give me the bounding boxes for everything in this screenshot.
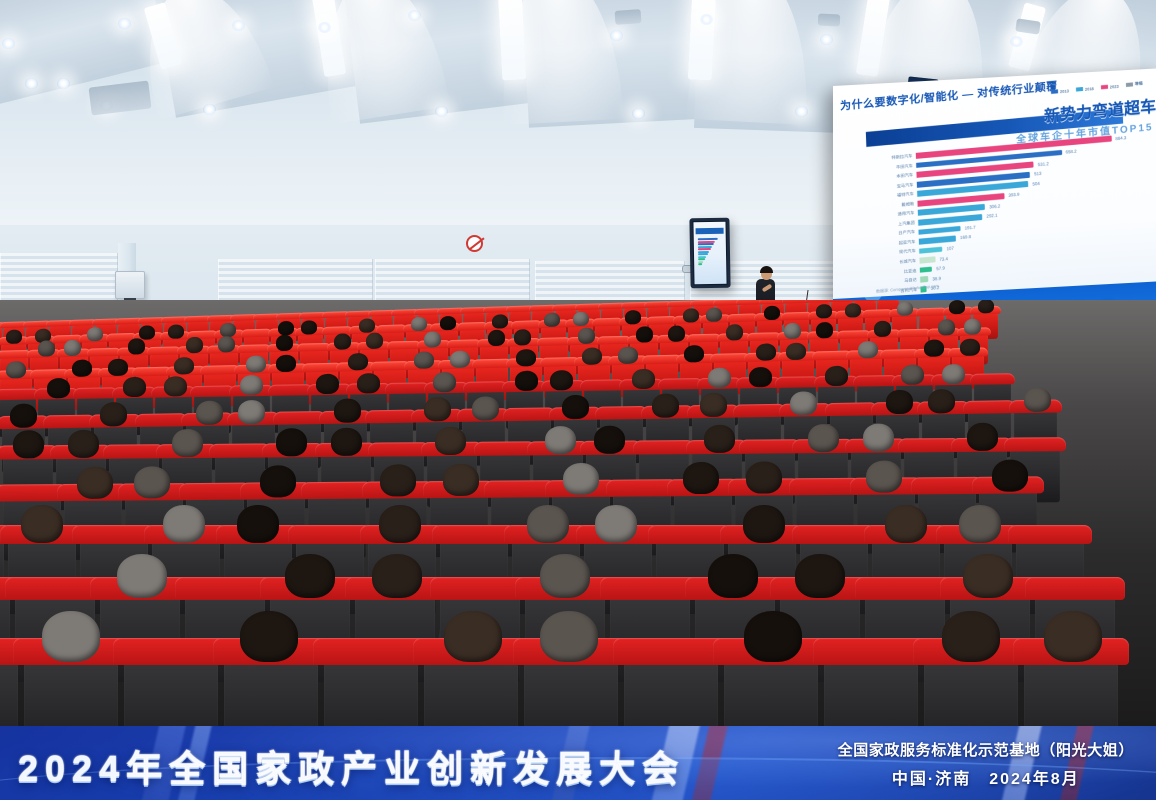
- audience-member-head: [764, 306, 780, 321]
- audience-member-head: [380, 464, 416, 496]
- chart-value-label: 191.7: [964, 225, 975, 231]
- auditorium-seat: [124, 648, 218, 726]
- audience-member-head: [790, 391, 817, 415]
- audience-member-head: [443, 464, 479, 496]
- audience-member-head: [1024, 387, 1051, 411]
- auditorium-seat: [624, 648, 718, 726]
- audience-member-head: [550, 370, 573, 390]
- audience-member-head: [276, 354, 296, 371]
- audience-member-head: [334, 398, 361, 422]
- audience-member-head: [744, 611, 802, 662]
- audience-member-head: [174, 357, 194, 374]
- audience-member-head: [472, 396, 499, 420]
- audience-member-head: [440, 316, 456, 331]
- audience-member-head: [47, 378, 70, 398]
- audience-member-head: [72, 359, 92, 376]
- audience-member-head: [240, 611, 298, 662]
- audience-member-head: [949, 300, 965, 314]
- audience-member-head: [1044, 611, 1102, 662]
- audience-member-head: [168, 324, 184, 339]
- chart-value-label: 393.9: [1008, 192, 1019, 198]
- audience-member-head: [668, 326, 685, 342]
- audience-member-head: [246, 355, 266, 372]
- chart-bar: [919, 246, 943, 254]
- audience-member-head: [901, 364, 924, 384]
- chart-bar: [920, 276, 929, 283]
- audience-member-head: [706, 307, 722, 322]
- audience-member-head: [795, 554, 845, 598]
- audience-member-head: [886, 389, 913, 413]
- audience-member-head: [743, 505, 785, 543]
- audience-member-head: [874, 321, 891, 337]
- chart-value-label: 292.1: [986, 213, 997, 219]
- audience-member-head: [260, 465, 296, 497]
- banner-subtitle-block: 全国家政服务标准化示范基地（阳光大姐） 中国·济南 2024年8月: [838, 739, 1134, 789]
- audience-member-head: [379, 505, 421, 543]
- audience-member-head: [285, 554, 335, 598]
- audience-member-head: [704, 425, 735, 453]
- audience-member-head: [134, 466, 170, 498]
- screenshot-root: 为什么要数字化/智能化 — 对传统行业颠覆 2013 2018 2023 增幅 …: [0, 0, 1156, 800]
- audience-member-head: [359, 318, 375, 333]
- audience-member-head: [540, 554, 590, 598]
- chart-bar: [919, 256, 935, 263]
- chart-value-label: 513: [1034, 171, 1041, 177]
- audience-member-head: [38, 341, 55, 357]
- audience-member-head: [128, 339, 145, 355]
- chart-value-label: 306.2: [989, 203, 1000, 209]
- audience-member-head: [411, 317, 427, 332]
- audience-member-head: [866, 460, 902, 492]
- audience-member-head: [960, 338, 980, 355]
- audience-member-head: [578, 328, 595, 344]
- audience-member-head: [573, 312, 589, 327]
- audience-member-head: [87, 327, 103, 342]
- audience-member-head: [863, 423, 894, 451]
- audience-member-head: [684, 345, 704, 362]
- audience-member-head: [527, 505, 569, 543]
- audience-member-head: [10, 403, 37, 427]
- event-banner: 2024年全国家政产业创新发展大会 全国家政服务标准化示范基地（阳光大姐） 中国…: [0, 726, 1156, 800]
- audience-member-head: [450, 350, 470, 367]
- audience-member-head: [636, 327, 653, 343]
- auditorium-seat: [1024, 648, 1118, 726]
- seat-row: [0, 648, 1156, 726]
- audience-member-head: [652, 393, 679, 417]
- audience-member-head: [959, 505, 1001, 543]
- audience-member-head: [726, 325, 743, 341]
- auditorium-seat: [724, 648, 818, 726]
- audience-member-head: [540, 611, 598, 662]
- audience-member-head: [492, 314, 508, 329]
- audience-member-head: [64, 340, 81, 356]
- audience-member-head: [424, 332, 441, 348]
- audience-member-head: [237, 505, 279, 543]
- audience-member-head: [357, 373, 380, 393]
- audience-member-head: [172, 429, 203, 457]
- audience-member-head: [316, 373, 339, 393]
- audience-member-head: [6, 329, 22, 344]
- audience-member-head: [928, 389, 955, 413]
- audience-member-head: [924, 339, 944, 356]
- legend-item: 2018: [1076, 85, 1094, 93]
- audience-member-head: [68, 430, 99, 458]
- audience-member-head: [885, 505, 927, 543]
- audience-member-head: [220, 323, 236, 338]
- chart-value-label: 57.9: [936, 265, 945, 271]
- audience-member-head: [77, 467, 113, 499]
- audience-member-head: [13, 430, 44, 458]
- audience-member-head: [632, 368, 655, 388]
- banner-org-line: 全国家政服务标准化示范基地（阳光大姐）: [838, 739, 1134, 760]
- presenter-hair: [760, 266, 773, 273]
- audience-member-head: [967, 423, 998, 451]
- audience-member-head: [164, 376, 187, 396]
- audience-member-head: [942, 364, 965, 384]
- audience-seating: 2828: [0, 300, 1156, 726]
- audience-member-head: [700, 392, 727, 416]
- auditorium-seat: [824, 648, 918, 726]
- slide-bar-chart: 特斯拉汽车884.3丰田汽车658.2本田汽车531.2宝马汽车513福特汽车5…: [874, 131, 1156, 289]
- banner-title: 2024年全国家政产业创新发展大会: [18, 740, 685, 792]
- audience-member-head: [516, 349, 536, 366]
- audience-member-head: [595, 505, 637, 543]
- auditorium-seat: [524, 648, 618, 726]
- banner-place-date: 中国·济南 2024年8月: [838, 765, 1134, 789]
- audience-member-head: [196, 400, 223, 424]
- audience-member-head: [240, 375, 263, 395]
- auditorium-seat: [424, 648, 518, 726]
- audience-member-head: [562, 395, 589, 419]
- audience-member-head: [218, 337, 235, 353]
- conference-photograph: 为什么要数字化/智能化 — 对传统行业颠覆 2013 2018 2023 增幅 …: [0, 0, 1156, 726]
- audience-member-head: [786, 342, 806, 359]
- audience-member-head: [625, 310, 641, 325]
- audience-member-head: [163, 505, 205, 543]
- chart-value-label: 107: [946, 246, 953, 252]
- no-smoking-icon: [466, 235, 483, 252]
- audience-member-head: [515, 370, 538, 390]
- audience-member-head: [963, 554, 1013, 598]
- audience-member-head: [756, 343, 776, 360]
- audience-member-head: [444, 611, 502, 662]
- audience-member-head: [301, 320, 317, 335]
- wall-speaker: [115, 271, 145, 299]
- audience-member-head: [372, 554, 422, 598]
- auditorium-seat: [224, 648, 318, 726]
- chart-value-label: 658.2: [1065, 149, 1076, 155]
- audience-member-head: [514, 330, 531, 346]
- audience-member-head: [563, 463, 599, 495]
- audience-member-head: [139, 325, 155, 340]
- audience-member-head: [278, 321, 294, 336]
- projected-slide: 为什么要数字化/智能化 — 对传统行业颠覆 2013 2018 2023 增幅 …: [833, 68, 1156, 302]
- audience-member-head: [186, 337, 203, 353]
- chart-value-label: 504: [1032, 181, 1039, 187]
- audience-member-head: [488, 330, 505, 346]
- audience-member-head: [238, 400, 265, 424]
- audience-member-head: [683, 462, 719, 494]
- audience-member-head: [784, 323, 801, 339]
- audience-member-head: [331, 428, 362, 456]
- audience-member-head: [42, 611, 100, 662]
- audience-member-head: [992, 459, 1028, 491]
- audience-member-head: [123, 376, 146, 396]
- audience-member-head: [964, 319, 981, 335]
- audience-member-head: [816, 322, 833, 338]
- audience-member-head: [276, 428, 307, 456]
- chart-value-label: 169.8: [960, 234, 971, 240]
- legend-item: 2023: [1101, 83, 1119, 91]
- audience-member-head: [816, 304, 832, 319]
- audience-member-head: [708, 554, 758, 598]
- audience-member-head: [108, 358, 128, 375]
- audience-member-head: [938, 320, 955, 336]
- audience-member-head: [683, 308, 699, 323]
- audience-member-head: [424, 397, 451, 421]
- legend-item: 2013: [1051, 87, 1069, 95]
- chart-value-label: 884.3: [1115, 135, 1126, 141]
- audience-member-head: [100, 402, 127, 426]
- audience-member-head: [594, 425, 625, 453]
- chart-value-label: 38.9: [932, 275, 941, 281]
- chart-bar: [918, 235, 956, 244]
- audience-member-head: [942, 611, 1000, 662]
- audience-member-head: [545, 426, 576, 454]
- audience-member-head: [845, 303, 861, 318]
- auditorium-seat: [924, 648, 1018, 726]
- wall-monitor: [689, 218, 730, 289]
- audience-member-head: [276, 335, 293, 351]
- audience-member-head: [808, 424, 839, 452]
- audience-member-head: [708, 367, 731, 387]
- audience-member-head: [544, 312, 560, 327]
- audience-member-head: [749, 367, 772, 387]
- audience-member-head: [618, 346, 638, 363]
- audience-member-head: [334, 334, 351, 350]
- chart-value-label: 73.4: [939, 256, 948, 262]
- audience-member-head: [746, 461, 782, 493]
- audience-member-head: [435, 427, 466, 455]
- audience-member-head: [858, 341, 878, 358]
- audience-member-head: [825, 365, 848, 385]
- audience-member-head: [6, 361, 26, 378]
- audience-member-head: [348, 353, 368, 370]
- audience-member-head: [366, 333, 383, 349]
- legend-item: 增幅: [1126, 80, 1143, 88]
- audience-member-head: [978, 300, 994, 313]
- auditorium-seat: [324, 648, 418, 726]
- audience-member-head: [117, 554, 167, 598]
- audience-member-head: [21, 505, 63, 543]
- audience-member-head: [582, 347, 602, 364]
- audience-member-head: [433, 372, 456, 392]
- auditorium-seat: [24, 648, 118, 726]
- chart-bar: [919, 266, 932, 273]
- audience-member-head: [897, 301, 913, 316]
- chart-value-label: 531.2: [1038, 161, 1049, 167]
- audience-member-head: [414, 351, 434, 368]
